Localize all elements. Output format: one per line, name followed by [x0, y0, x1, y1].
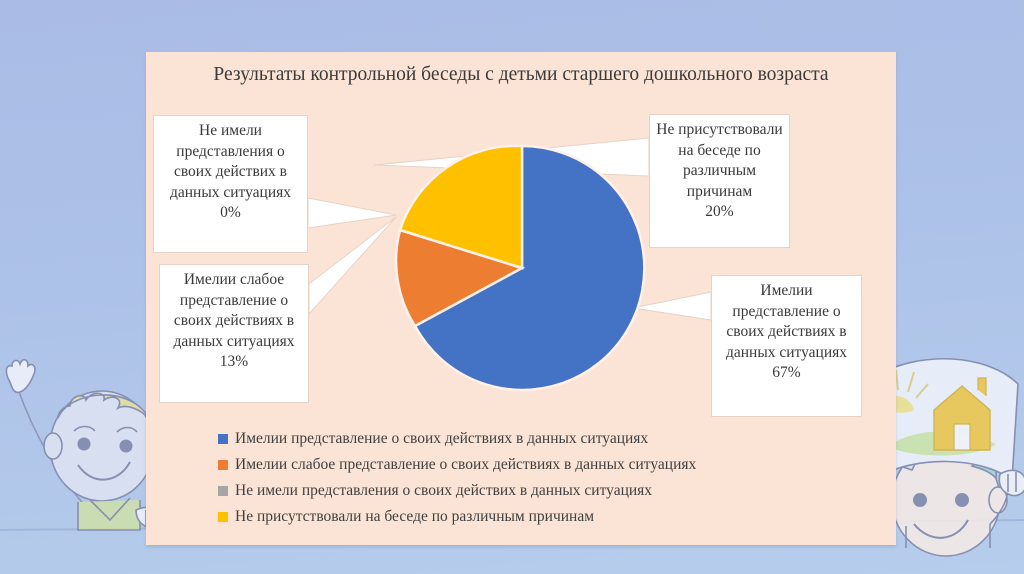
- callout-text: Не имели представления о своих действих …: [170, 122, 291, 201]
- leader-line-grey: [308, 198, 396, 228]
- legend-swatch-icon: [218, 486, 228, 496]
- callout-value: 20%: [656, 202, 783, 223]
- legend-item-label: Не имели представления о своих действих …: [235, 482, 652, 500]
- legend-item-yellow[interactable]: Не присутствовали на беседе по различным…: [218, 504, 878, 530]
- legend-swatch-icon: [218, 512, 228, 522]
- legend-item-label: Имелии слабое представление о своих дейс…: [235, 456, 696, 474]
- callout-text: Имелии представление о своих действиях в…: [726, 282, 847, 361]
- leader-line-blue: [633, 292, 711, 320]
- callout-text: Не присутствовали на беседе по различным…: [656, 121, 782, 200]
- legend-item-grey[interactable]: Не имели представления о своих действих …: [218, 478, 878, 504]
- leader-line-orange: [309, 217, 396, 314]
- legend-item-blue[interactable]: Имелии представление о своих действиях в…: [218, 426, 878, 452]
- legend-item-orange[interactable]: Имелии слабое представление о своих дейс…: [218, 452, 878, 478]
- callout-absent[interactable]: Не присутствовали на беседе по различным…: [649, 114, 790, 248]
- callout-no-understanding[interactable]: Не имели представления о своих действих …: [153, 115, 308, 253]
- legend-swatch-icon: [218, 434, 228, 444]
- legend-item-label: Имелии представление о своих действиях в…: [235, 430, 648, 448]
- chart-panel: Результаты контрольной беседы с детьми с…: [146, 52, 896, 545]
- slide-canvas: Результаты контрольной беседы с детьми с…: [0, 0, 1024, 574]
- legend-item-label: Не присутствовали на беседе по различным…: [235, 508, 594, 526]
- callout-value: 13%: [166, 352, 302, 373]
- legend-swatch-icon: [218, 460, 228, 470]
- callout-text: Имелии слабое представление о своих дейс…: [173, 271, 294, 350]
- callout-value: 67%: [718, 363, 855, 384]
- callout-weak-understanding[interactable]: Имелии слабое представление о своих дейс…: [159, 264, 309, 403]
- callout-value: 0%: [160, 203, 301, 224]
- pie-slices: [396, 146, 644, 390]
- child-holding-drawing-illustration: [876, 359, 1024, 556]
- child-waving-illustration: [6, 360, 166, 530]
- chart-legend: Имелии представление о своих действиях в…: [218, 426, 878, 530]
- callout-full-understanding[interactable]: Имелии представление о своих действиях в…: [711, 275, 862, 417]
